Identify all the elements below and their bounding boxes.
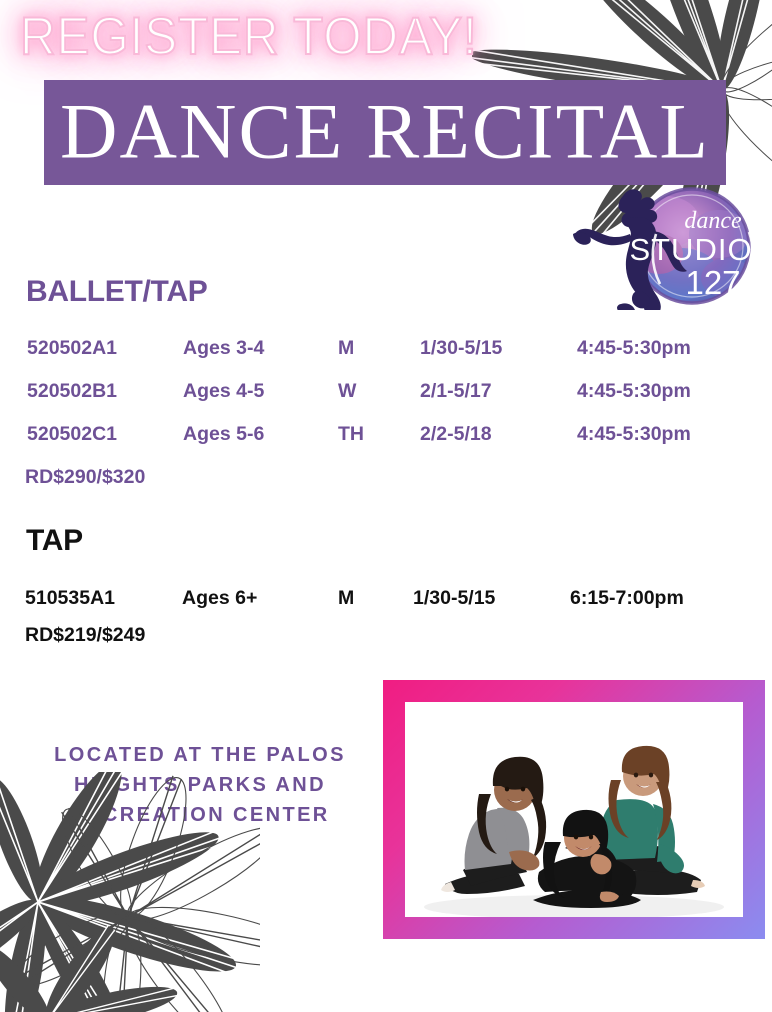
location-text: LOCATED AT THE PALOS HEIGHTS PARKS AND R… (18, 740, 382, 830)
logo-main-word: STUDIO (629, 232, 752, 267)
location-line-3: RECREATION CENTER (18, 800, 382, 830)
class-code: 520502B1 (27, 380, 117, 403)
logo-script-word: dance (684, 208, 742, 234)
class-ages: Ages 6+ (182, 587, 257, 610)
page-title: DANCE RECITAL (37, 92, 733, 170)
class-day: TH (338, 423, 364, 446)
class-code: 520502C1 (27, 423, 117, 446)
class-code: 510535A1 (25, 587, 115, 610)
class-code: 520502A1 (27, 337, 117, 360)
table-row: 520502A1 Ages 3-4 M 1/30-5/15 4:45-5:30p… (0, 337, 772, 363)
three-seated-dancers-photo (405, 702, 743, 917)
title-banner: DANCE RECITAL (44, 80, 726, 185)
class-ages: Ages 5-6 (183, 423, 264, 446)
photo-gradient-frame (383, 680, 765, 939)
dance-recital-flyer: REGISTER TODAY! DANCE RECITAL (0, 0, 772, 1012)
class-dates: 1/30-5/15 (413, 587, 495, 610)
class-day: M (338, 337, 354, 360)
dance-studio-127-logo: dance STUDIO 127 (561, 182, 766, 310)
class-time: 4:45-5:30pm (577, 423, 691, 446)
class-day: M (338, 587, 354, 610)
class-time: 6:15-7:00pm (570, 587, 684, 610)
section-heading-tap: TAP (26, 524, 83, 558)
table-row: 520502B1 Ages 4-5 W 2/1-5/17 4:45-5:30pm (0, 380, 772, 406)
class-dates: 1/30-5/15 (420, 337, 502, 360)
class-dates: 2/1-5/17 (420, 380, 492, 403)
section-heading-ballet-tap: BALLET/TAP (26, 275, 207, 309)
price-tap: RD$219/$249 (25, 624, 145, 647)
table-row: 510535A1 Ages 6+ M 1/30-5/15 6:15-7:00pm (0, 587, 772, 613)
class-dates: 2/2-5/18 (420, 423, 492, 446)
table-row: 520502C1 Ages 5-6 TH 2/2-5/18 4:45-5:30p… (0, 423, 772, 449)
class-time: 4:45-5:30pm (577, 380, 691, 403)
location-line-1: LOCATED AT THE PALOS (18, 740, 382, 770)
register-today-headline: REGISTER TODAY! (20, 6, 478, 67)
class-ages: Ages 4-5 (183, 380, 264, 403)
class-ages: Ages 3-4 (183, 337, 264, 360)
class-day: W (338, 380, 356, 403)
class-time: 4:45-5:30pm (577, 337, 691, 360)
location-line-2: HEIGHTS PARKS AND (18, 770, 382, 800)
logo-number: 127 (685, 264, 740, 301)
price-ballet-tap: RD$290/$320 (25, 466, 145, 489)
